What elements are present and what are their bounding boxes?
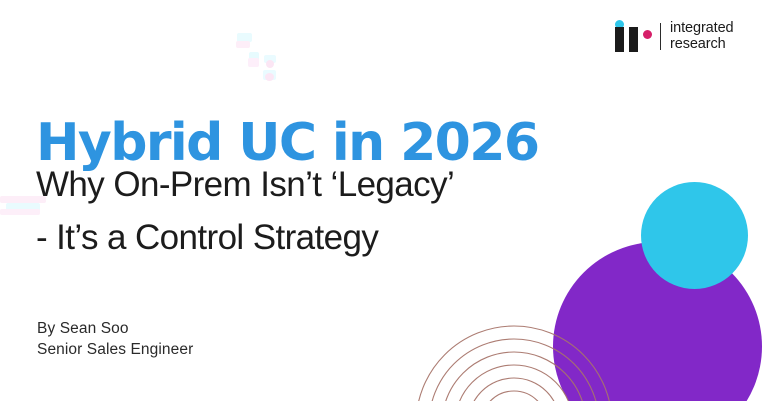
byline-author: By Sean Soo [37,318,193,339]
logo-wordmark: integrated research [670,20,734,52]
logo-dot-magenta-icon [643,30,652,39]
logo-wordmark-line-1: integrated [670,20,734,36]
decorative-concentric-rings [492,296,692,401]
decorative-circle-purple [553,242,762,401]
logo-divider [660,23,661,50]
logo-bar-right-icon [629,27,638,52]
logo-wordmark-line-2: research [670,36,726,52]
subtitle-line-2: - It’s a Control Strategy [36,211,454,264]
speckle-artifact [6,203,40,211]
slide-canvas: integrated research Hybrid UC in 2026 Wh… [0,0,768,401]
decorative-circle-cyan [641,182,748,289]
logo-mark-icon [612,16,658,56]
speckle-artifact [237,33,252,42]
speckle-artifact [263,70,276,80]
brand-logo: integrated research [612,14,754,58]
speckle-artifact [236,41,250,48]
concentric-rings-svg [492,296,692,401]
speckle-artifact [265,73,274,81]
byline-role: Senior Sales Engineer [37,339,193,360]
speckle-artifact [249,52,259,61]
speckle-artifact [264,55,276,63]
presenter-byline: By Sean Soo Senior Sales Engineer [37,318,193,360]
speckle-artifact [248,58,259,67]
speckle-artifact [266,60,274,68]
logo-bar-left-icon [615,27,624,52]
slide-subtitle: Why On-Prem Isn’t ‘Legacy’ - It’s a Cont… [36,158,454,264]
speckle-artifact [0,209,40,215]
subtitle-line-1: Why On-Prem Isn’t ‘Legacy’ [36,158,454,211]
